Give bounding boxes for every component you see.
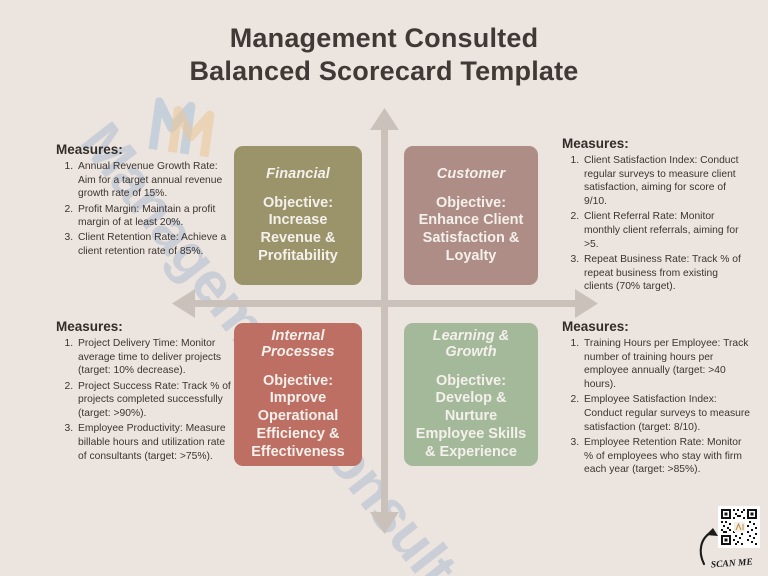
quadrant-objective-financial: Objective: Increase Revenue & Profitabil… xyxy=(244,195,352,266)
quadrant-box-financial[interactable]: Financial Objective: Increase Revenue & … xyxy=(234,146,362,285)
horizontal-axis-line xyxy=(190,300,580,307)
qr-code[interactable] xyxy=(718,506,760,548)
curved-arrow-up-icon xyxy=(701,528,718,564)
quadrant-title-internal-processes: Internal Processes xyxy=(244,328,352,360)
measure-item: Employee Retention Rate: Monitor % of em… xyxy=(582,436,750,477)
arrow-down-icon xyxy=(370,512,399,534)
measure-item: Repeat Business Rate: Track % of repeat … xyxy=(582,253,746,294)
measures-heading-financial: Measures: xyxy=(56,142,228,157)
measures-list-customer: Client Satisfaction Index: Conduct regul… xyxy=(562,154,746,294)
arrow-up-icon xyxy=(370,108,399,130)
measure-item: Profit Margin: Maintain a profit margin … xyxy=(76,203,228,230)
measure-item: Client Retention Rate: Achieve a client … xyxy=(76,231,228,258)
arrow-left-icon xyxy=(172,289,195,318)
measure-item: Client Referral Rate: Monitor monthly cl… xyxy=(582,210,746,251)
measure-item: Project Delivery Time: Monitor average t… xyxy=(76,337,234,378)
measures-list-internal-processes: Project Delivery Time: Monitor average t… xyxy=(56,337,234,463)
measures-list-financial: Annual Revenue Growth Rate: Aim for a ta… xyxy=(56,160,228,259)
measures-customer: Measures: Client Satisfaction Index: Con… xyxy=(562,136,746,295)
quadrant-objective-internal-processes: Objective: Improve Operational Efficienc… xyxy=(244,373,352,461)
measure-item: Employee Productivity: Measure billable … xyxy=(76,422,234,463)
page-title-line-1: Management Consulted xyxy=(0,22,768,55)
quadrant-title-customer: Customer xyxy=(437,166,505,182)
measures-heading-learning-growth: Measures: xyxy=(562,319,750,334)
quadrant-box-learning-growth[interactable]: Learning & Growth Objective: Develop & N… xyxy=(404,323,538,466)
scan-me-block[interactable]: SCAN ME xyxy=(692,504,762,570)
measure-item: Annual Revenue Growth Rate: Aim for a ta… xyxy=(76,160,228,201)
measure-item: Employee Satisfaction Index: Conduct reg… xyxy=(582,393,750,434)
measure-item: Project Success Rate: Track % of project… xyxy=(76,380,234,421)
vertical-axis-line xyxy=(381,124,388,522)
scan-me-label: SCAN ME xyxy=(711,558,754,570)
quadrant-title-learning-growth: Learning & Growth xyxy=(414,328,528,360)
quadrant-objective-learning-growth: Objective: Develop & Nurture Employee Sk… xyxy=(414,373,528,461)
quadrant-box-customer[interactable]: Customer Objective: Enhance Client Satis… xyxy=(404,146,538,285)
measures-heading-internal-processes: Measures: xyxy=(56,319,234,334)
page-title: Management Consulted Balanced Scorecard … xyxy=(0,22,768,88)
measures-internal-processes: Measures: Project Delivery Time: Monitor… xyxy=(56,319,234,465)
page-title-line-2: Balanced Scorecard Template xyxy=(0,55,768,88)
quadrant-objective-customer: Objective: Enhance Client Satisfaction &… xyxy=(414,195,528,266)
measures-heading-customer: Measures: xyxy=(562,136,746,151)
quadrant-box-internal-processes[interactable]: Internal Processes Objective: Improve Op… xyxy=(234,323,362,466)
measure-item: Client Satisfaction Index: Conduct regul… xyxy=(582,154,746,209)
measures-list-learning-growth: Training Hours per Employee: Track numbe… xyxy=(562,337,750,477)
measures-financial: Measures: Annual Revenue Growth Rate: Ai… xyxy=(56,142,228,260)
measure-item: Training Hours per Employee: Track numbe… xyxy=(582,337,750,392)
quadrant-title-financial: Financial xyxy=(266,166,330,182)
measures-learning-growth: Measures: Training Hours per Employee: T… xyxy=(562,319,750,478)
